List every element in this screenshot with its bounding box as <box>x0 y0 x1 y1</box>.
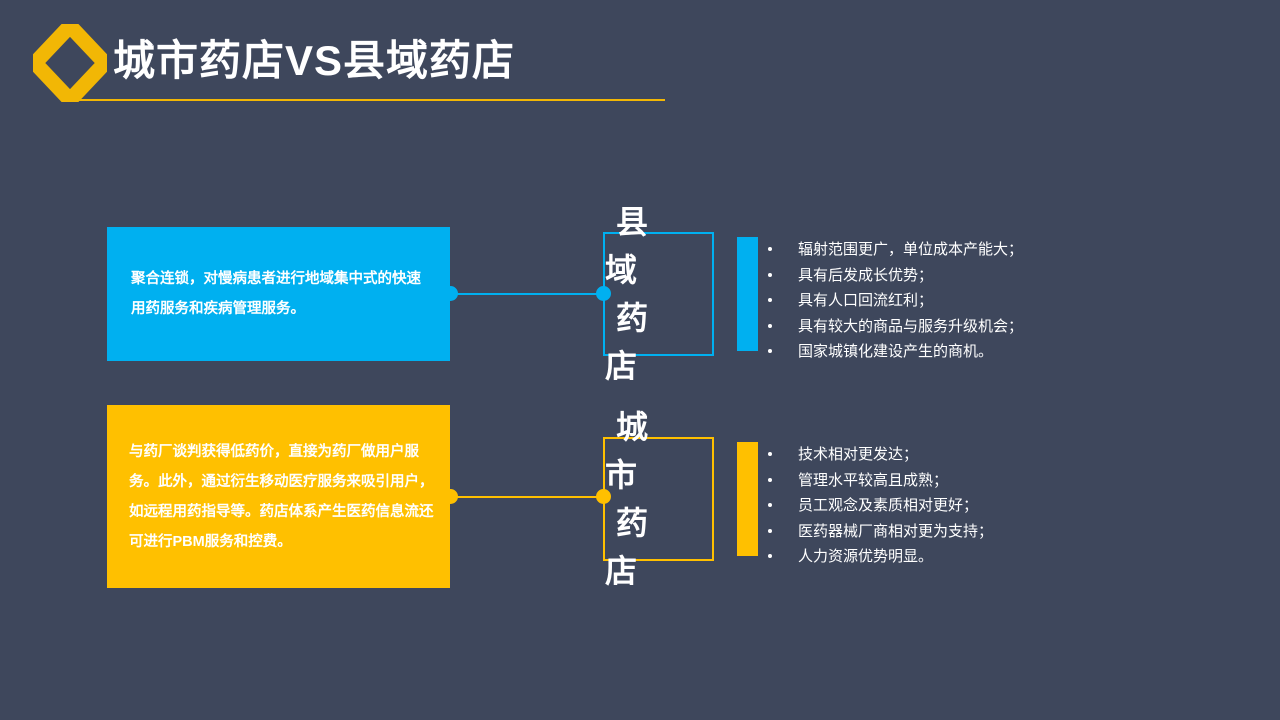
list-item: 员工观念及素质相对更好； <box>768 493 993 519</box>
description-box-county: 聚合连锁，对慢病患者进行地域集中式的快速用药服务和疾病管理服务。 <box>107 227 450 361</box>
connector-dot-county-left <box>443 286 458 301</box>
bullet-dot-icon <box>768 503 772 507</box>
bullet-dot-icon <box>768 478 772 482</box>
bullet-accent-bar-city <box>737 442 758 556</box>
slide-canvas: 城市药店VS县域药店 聚合连锁，对慢病患者进行地域集中式的快速用药服务和疾病管理… <box>0 0 1280 720</box>
bullet-dot-icon <box>768 247 772 251</box>
slide-header: 城市药店VS县域药店 <box>0 0 1280 120</box>
bullet-accent-bar-county <box>737 237 758 351</box>
connector-line-county <box>450 293 605 295</box>
page-title: 城市药店VS县域药店 <box>113 32 515 90</box>
list-item-label: 具有后发成长优势； <box>798 267 933 284</box>
bullet-dot-icon <box>768 452 772 456</box>
bullet-dot-icon <box>768 554 772 558</box>
list-item-label: 管理水平较高且成熟； <box>798 472 948 489</box>
diamond-outline-icon <box>33 24 107 102</box>
category-label-city-line1: 城 市 <box>605 403 712 499</box>
category-label-county-line1: 县 域 <box>605 198 712 294</box>
list-item: 辐射范围更广，单位成本产能大； <box>768 237 1023 263</box>
list-item: 具有人口回流红利； <box>768 288 1023 314</box>
bullet-dot-icon <box>768 298 772 302</box>
description-text-city: 与药厂谈判获得低药价，直接为药厂做用户服务。此外，通过衍生移动医疗服务来吸引用户… <box>129 437 434 557</box>
bullet-dot-icon <box>768 349 772 353</box>
list-item-label: 辐射范围更广，单位成本产能大； <box>798 241 1023 258</box>
list-item-label: 国家城镇化建设产生的商机。 <box>798 343 993 360</box>
list-item: 国家城镇化建设产生的商机。 <box>768 339 1023 365</box>
category-box-county: 县 域 药 店 <box>603 232 714 356</box>
list-item-label: 人力资源优势明显。 <box>798 548 933 565</box>
list-item: 具有后发成长优势； <box>768 263 1023 289</box>
list-item: 管理水平较高且成熟； <box>768 468 993 494</box>
list-item: 医药器械厂商相对更为支持； <box>768 519 993 545</box>
title-underline-rule <box>68 99 665 101</box>
list-item: 人力资源优势明显。 <box>768 544 993 570</box>
category-box-city: 城 市 药 店 <box>603 437 714 561</box>
category-label-city-line2: 药 店 <box>605 499 712 595</box>
description-box-city: 与药厂谈判获得低药价，直接为药厂做用户服务。此外，通过衍生移动医疗服务来吸引用户… <box>107 405 450 588</box>
description-text-county: 聚合连锁，对慢病患者进行地域集中式的快速用药服务和疾病管理服务。 <box>131 264 430 324</box>
list-item-label: 医药器械厂商相对更为支持； <box>798 523 993 540</box>
connector-dot-city-left <box>443 489 458 504</box>
category-label-county-line2: 药 店 <box>605 294 712 390</box>
list-item: 具有较大的商品与服务升级机会； <box>768 314 1023 340</box>
list-item-label: 技术相对更发达； <box>798 446 918 463</box>
list-item: 技术相对更发达； <box>768 442 993 468</box>
connector-line-city <box>450 496 605 498</box>
bullet-dot-icon <box>768 273 772 277</box>
bullet-dot-icon <box>768 529 772 533</box>
bullet-dot-icon <box>768 324 772 328</box>
list-item-label: 具有人口回流红利； <box>798 292 933 309</box>
bullet-list-city: 技术相对更发达； 管理水平较高且成熟； 员工观念及素质相对更好； 医药器械厂商相… <box>768 442 993 570</box>
list-item-label: 具有较大的商品与服务升级机会； <box>798 318 1023 335</box>
list-item-label: 员工观念及素质相对更好； <box>798 497 978 514</box>
bullet-list-county: 辐射范围更广，单位成本产能大； 具有后发成长优势； 具有人口回流红利； 具有较大… <box>768 237 1023 365</box>
